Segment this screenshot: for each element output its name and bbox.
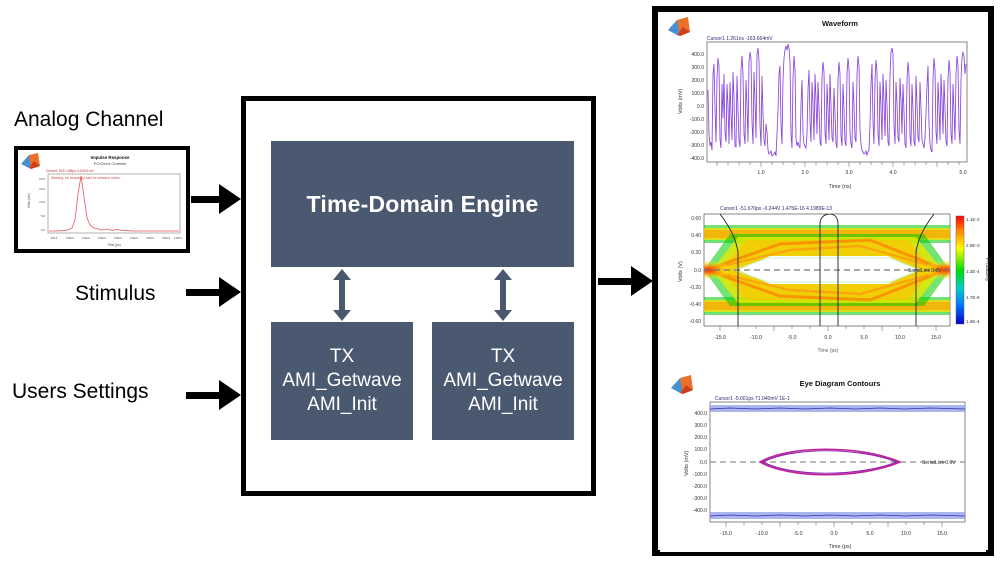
contours-xlabel: Time (ps): [828, 544, 851, 550]
arrow-down-head-icon: [333, 310, 351, 321]
waveform-ytick: 400.0: [691, 52, 704, 58]
analog-channel-label: Analog Channel: [14, 108, 163, 132]
tx-block-1-line3: AMI_Init: [307, 393, 377, 417]
eye-xtick: 0.0: [824, 335, 831, 341]
eye-ylabel: Volts (V): [678, 261, 684, 282]
time-domain-engine-container: Time-Domain Engine TX AMI_Getwave AMI_In…: [241, 96, 596, 496]
impulse-subtitle: PCIGen4 Channel: [94, 161, 127, 166]
results-panel: Waveform Cursor1 1.261ns -163.664mV 400.…: [652, 6, 994, 556]
impulse-response-chart: Impulse Response PCIGen4 Channel Cursor1…: [18, 150, 186, 249]
eye-ytick: -0.20: [690, 285, 702, 291]
contours-ytick: 200.0: [694, 435, 707, 441]
waveform-cursor-readout: Cursor1 1.261ns -163.664mV: [707, 36, 773, 42]
waveform-xtick-marks: [717, 162, 959, 167]
eye-annotation: SerialLink 0.0V: [908, 268, 942, 274]
contours-ytick: -200.0: [693, 484, 707, 490]
impulse-plot-frame: [48, 174, 180, 233]
contours-xtick: 5.0: [866, 531, 873, 537]
eye-xtick: 5.0: [860, 335, 867, 341]
impulse-ytick: 5.0: [41, 214, 46, 218]
arrow-shaft: [339, 278, 345, 312]
waveform-ylabel: Volts (mV): [678, 88, 684, 114]
waveform-ytick: -400.0: [690, 156, 704, 162]
eye-xtick-marks: [720, 326, 936, 331]
contours-ytick: 400.0: [694, 411, 707, 417]
impulse-title: Impulse Response: [91, 155, 130, 160]
matlab-logo-icon: [668, 17, 690, 36]
contours-ytick: 0.0: [700, 460, 707, 466]
impulse-ytick: 0.0: [41, 228, 46, 232]
eye-ytick: -0.40: [690, 302, 702, 308]
arrow-shaft: [500, 278, 506, 312]
eye-ytick: 0.60: [691, 216, 701, 222]
arrow-down-head-icon: [494, 310, 512, 321]
waveform-ytick: -100.0: [690, 117, 704, 123]
impulse-trace: [49, 176, 179, 231]
time-domain-engine-title: Time-Domain Engine: [307, 191, 539, 218]
contours-xtick: 10.0: [901, 531, 911, 537]
impulse-xtick: 1100.0: [82, 236, 90, 240]
engine-tx1-link-arrow: [331, 269, 353, 321]
impulse-xtick: 1000.0: [66, 236, 74, 240]
waveform-chart-svg: Waveform Cursor1 1.261ns -163.664mV 400.…: [660, 14, 990, 200]
eye-ytick: 0.40: [691, 233, 701, 239]
contours-ytick: 300.0: [694, 423, 707, 429]
impulse-ytick: 10.0: [39, 200, 45, 204]
waveform-xtick: 2.0: [801, 170, 808, 176]
impulse-ytick: 15.0: [39, 187, 45, 191]
tx-ami-block-2[interactable]: TX AMI_Getwave AMI_Init: [432, 322, 574, 440]
arrow-analog-to-engine: [191, 184, 241, 214]
eye-colorbar-label: 1.1E-2: [966, 217, 980, 222]
waveform-ytick: -200.0: [690, 130, 704, 136]
eye-cursor-readout: Cursor1 -51.670ps -0.244V 1.475E-16 4.19…: [720, 206, 832, 212]
impulse-xtick: 1700.0: [174, 236, 182, 240]
arrow-engine-to-results: [598, 266, 653, 296]
eye-colorbar: [956, 216, 964, 324]
eye-ytick: -0.60: [690, 319, 702, 325]
tx-block-2-line2: AMI_Getwave: [443, 369, 562, 393]
impulse-warning-text: Warning: No frequency data for selected …: [51, 176, 121, 180]
waveform-ytick: 0.0: [697, 104, 704, 110]
matlab-logo-icon: [671, 375, 693, 394]
contours-ytick: -400.0: [693, 508, 707, 514]
arrow-users-settings-to-engine: [186, 380, 241, 410]
contours-xtick: -5.0: [794, 531, 803, 537]
waveform-ytick: 100.0: [691, 91, 704, 97]
contours-xtick: -15.0: [720, 531, 732, 537]
tx-block-2-line1: TX: [491, 345, 515, 369]
waveform-xtick: 3.0: [845, 170, 852, 176]
waveform-title: Waveform: [822, 19, 858, 28]
eye-ytick: 0.0: [694, 268, 701, 274]
impulse-xlabel: Time (ps): [107, 243, 120, 247]
users-settings-label: Users Settings: [12, 380, 149, 404]
contours-xtick-marks: [726, 522, 942, 527]
waveform-chart-block[interactable]: Waveform Cursor1 1.261ns -163.664mV 400.…: [660, 14, 986, 200]
impulse-xtick: 1500.0: [146, 236, 154, 240]
eye-xtick: -5.0: [788, 335, 797, 341]
eye-ytick: 0.20: [691, 250, 701, 256]
analog-channel-thumbnail-frame: Impulse Response PCIGen4 Channel Cursor1…: [14, 146, 190, 253]
contours-title: Eye Diagram Contours: [800, 379, 881, 388]
eye-colorbar-label: 2.6E-3: [966, 243, 980, 248]
waveform-xtick: 4.0: [889, 170, 896, 176]
engine-tx2-link-arrow: [492, 269, 514, 321]
eye-colorbar-label: 1.6E-4: [966, 319, 980, 324]
contours-xtick: -10.0: [756, 531, 768, 537]
contours-ytick: -300.0: [693, 496, 707, 502]
eye-xtick: 10.0: [895, 335, 905, 341]
eye-colorbar-label: 1.7E-6: [966, 295, 980, 300]
impulse-xtick: 1600.0: [162, 236, 170, 240]
contours-xtick: 15.0: [937, 531, 947, 537]
impulse-cursor-readout: Cursor1 1531.408ps 4.22631mV: [46, 169, 94, 173]
impulse-ylabel: Volts (mV): [27, 193, 31, 208]
impulse-xtick: 1300.0: [114, 236, 122, 240]
eye-colorbar-title: Probability: [984, 258, 990, 282]
contours-cursor-readout: Cursor1 -5.001ps 71.040mV 1E-1: [715, 396, 790, 402]
contours-ylabel: Volts (mV): [684, 450, 690, 476]
matlab-logo-icon: [21, 153, 40, 169]
waveform-ytick: 300.0: [691, 65, 704, 71]
arrow-stimulus-to-engine: [186, 277, 241, 307]
tx-ami-block-1[interactable]: TX AMI_Getwave AMI_Init: [271, 322, 413, 440]
stimulus-label: Stimulus: [75, 282, 156, 306]
eye-diagram-chart-svg: Cursor1 -51.670ps -0.244V 1.475E-16 4.19…: [660, 200, 990, 372]
eye-contours-chart-block[interactable]: Eye Diagram Contours Cursor1 -5.001ps 71…: [660, 372, 986, 552]
eye-xtick: -10.0: [750, 335, 762, 341]
eye-colorbar-label: 1.3E-4: [966, 269, 980, 274]
waveform-xtick: 1.0: [757, 170, 764, 176]
eye-xtick: -15.0: [714, 335, 726, 341]
contours-ytick: 100.0: [694, 447, 707, 453]
contours-xtick: 0.0: [830, 531, 837, 537]
tx-block-1-line2: AMI_Getwave: [282, 369, 401, 393]
impulse-xtick: 900.0: [51, 236, 58, 240]
tx-block-1-line1: TX: [330, 345, 354, 369]
eye-xtick: 15.0: [931, 335, 941, 341]
eye-xlabel: Time (ps): [818, 348, 839, 354]
time-domain-engine-block[interactable]: Time-Domain Engine: [271, 141, 574, 267]
contours-ytick: -100.0: [693, 472, 707, 478]
impulse-ytick: 20.0: [39, 177, 45, 181]
tx-block-2-line3: AMI_Init: [468, 393, 538, 417]
impulse-xtick: 1200.0: [98, 236, 106, 240]
waveform-ytick: -300.0: [690, 143, 704, 149]
waveform-ytick: 200.0: [691, 78, 704, 84]
contours-annotation: SerialLink 0.0V: [922, 460, 956, 466]
eye-diagram-chart-block[interactable]: Cursor1 -51.670ps -0.244V 1.475E-16 4.19…: [660, 200, 986, 372]
waveform-xlabel: Time (ns): [828, 184, 851, 190]
impulse-xtick: 1400.0: [130, 236, 138, 240]
eye-contours-chart-svg: Eye Diagram Contours Cursor1 -5.001ps 71…: [660, 372, 990, 552]
waveform-xtick: 5.0: [959, 170, 966, 176]
